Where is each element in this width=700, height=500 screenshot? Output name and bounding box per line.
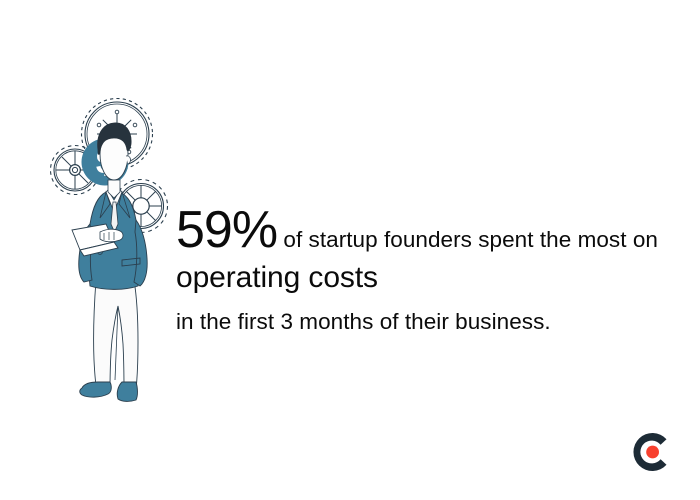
statistic-tail-text: in the first 3 months of their business.: [176, 308, 700, 335]
statistic-emphasis-text: operating costs: [176, 261, 700, 296]
shoe-right: [117, 382, 137, 401]
infographic-canvas: $: [0, 0, 700, 500]
statistic-percentage: 59%: [176, 201, 277, 259]
statistic-lead-in-text: of startup founders spent the most on: [277, 227, 658, 252]
brand-logo-dot-icon: [646, 446, 659, 459]
shoe-left: [80, 382, 112, 397]
brand-logo[interactable]: [630, 430, 674, 474]
businessman-with-gears-illustration: $: [44, 92, 184, 412]
hands: [100, 229, 123, 242]
trousers: [94, 280, 138, 392]
statistic-headline-line: 59% of startup founders spent the most o…: [176, 204, 700, 254]
statistic-text-block: 59% of startup founders spent the most o…: [176, 204, 700, 335]
